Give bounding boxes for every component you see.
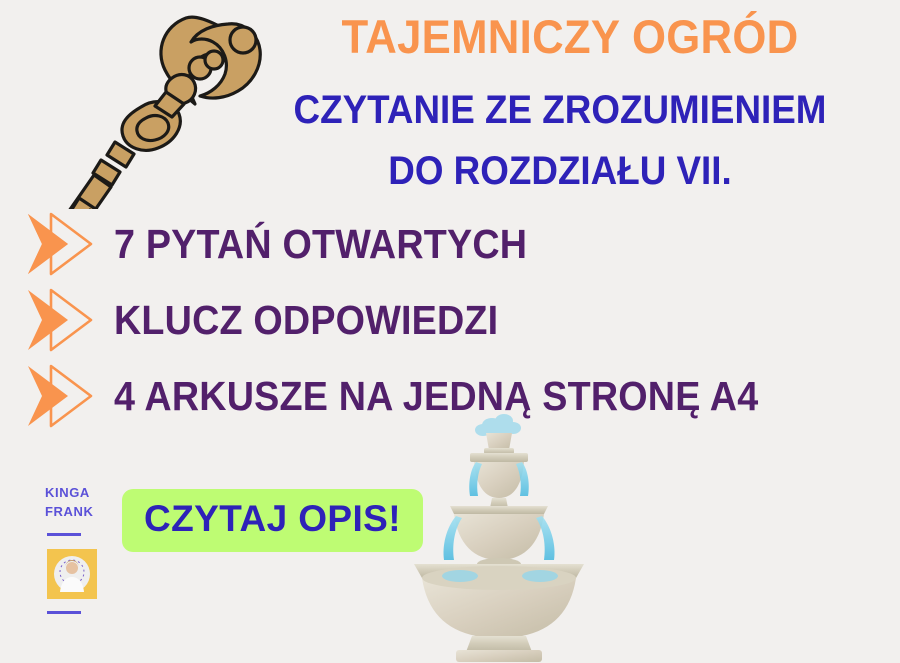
double-chevron-right-icon: [24, 287, 102, 353]
stone-fountain-illustration: [400, 412, 624, 663]
list-item: KLUCZ ODPOWIEDZI: [0, 282, 900, 358]
double-chevron-right-icon: [24, 211, 102, 277]
list-item: 7 PYTAŃ OTWARTYCH: [0, 206, 900, 282]
feature-list: 7 PYTAŃ OTWARTYCH KLUCZ ODPOWIEDZI 4 ARK…: [0, 206, 900, 434]
ornate-key-illustration: [38, 0, 278, 209]
list-item-label: KLUCZ ODPOWIEDZI: [114, 298, 498, 342]
list-item-label: 7 PYTAŃ OTWARTYCH: [114, 222, 527, 266]
author-signature: KINGA FRANK: [45, 483, 117, 614]
signature-divider-bottom: [47, 611, 81, 614]
przystan-edukacji-logo: [47, 549, 97, 599]
subtitle-line-1: CZYTANIE ZE ZROZUMIENIEM: [252, 86, 868, 134]
logo-badge-icon: [47, 549, 97, 599]
author-first-name: KINGA: [45, 483, 117, 502]
list-item: 4 ARKUSZE NA JEDNĄ STRONĘ A4: [0, 358, 900, 434]
page-title: TAJEMNICZY OGRÓD: [272, 8, 867, 66]
double-chevron-right-icon: [24, 363, 102, 429]
list-item-label: 4 ARKUSZE NA JEDNĄ STRONĘ A4: [114, 374, 758, 418]
subtitle-line-2: DO ROZDZIAŁU VII.: [252, 147, 868, 195]
read-description-button[interactable]: CZYTAJ OPIS!: [122, 489, 423, 552]
signature-divider-top: [47, 533, 81, 536]
poster-canvas: TAJEMNICZY OGRÓD CZYTANIE ZE ZROZUMIENIE…: [0, 0, 900, 663]
author-last-name: FRANK: [45, 502, 117, 521]
